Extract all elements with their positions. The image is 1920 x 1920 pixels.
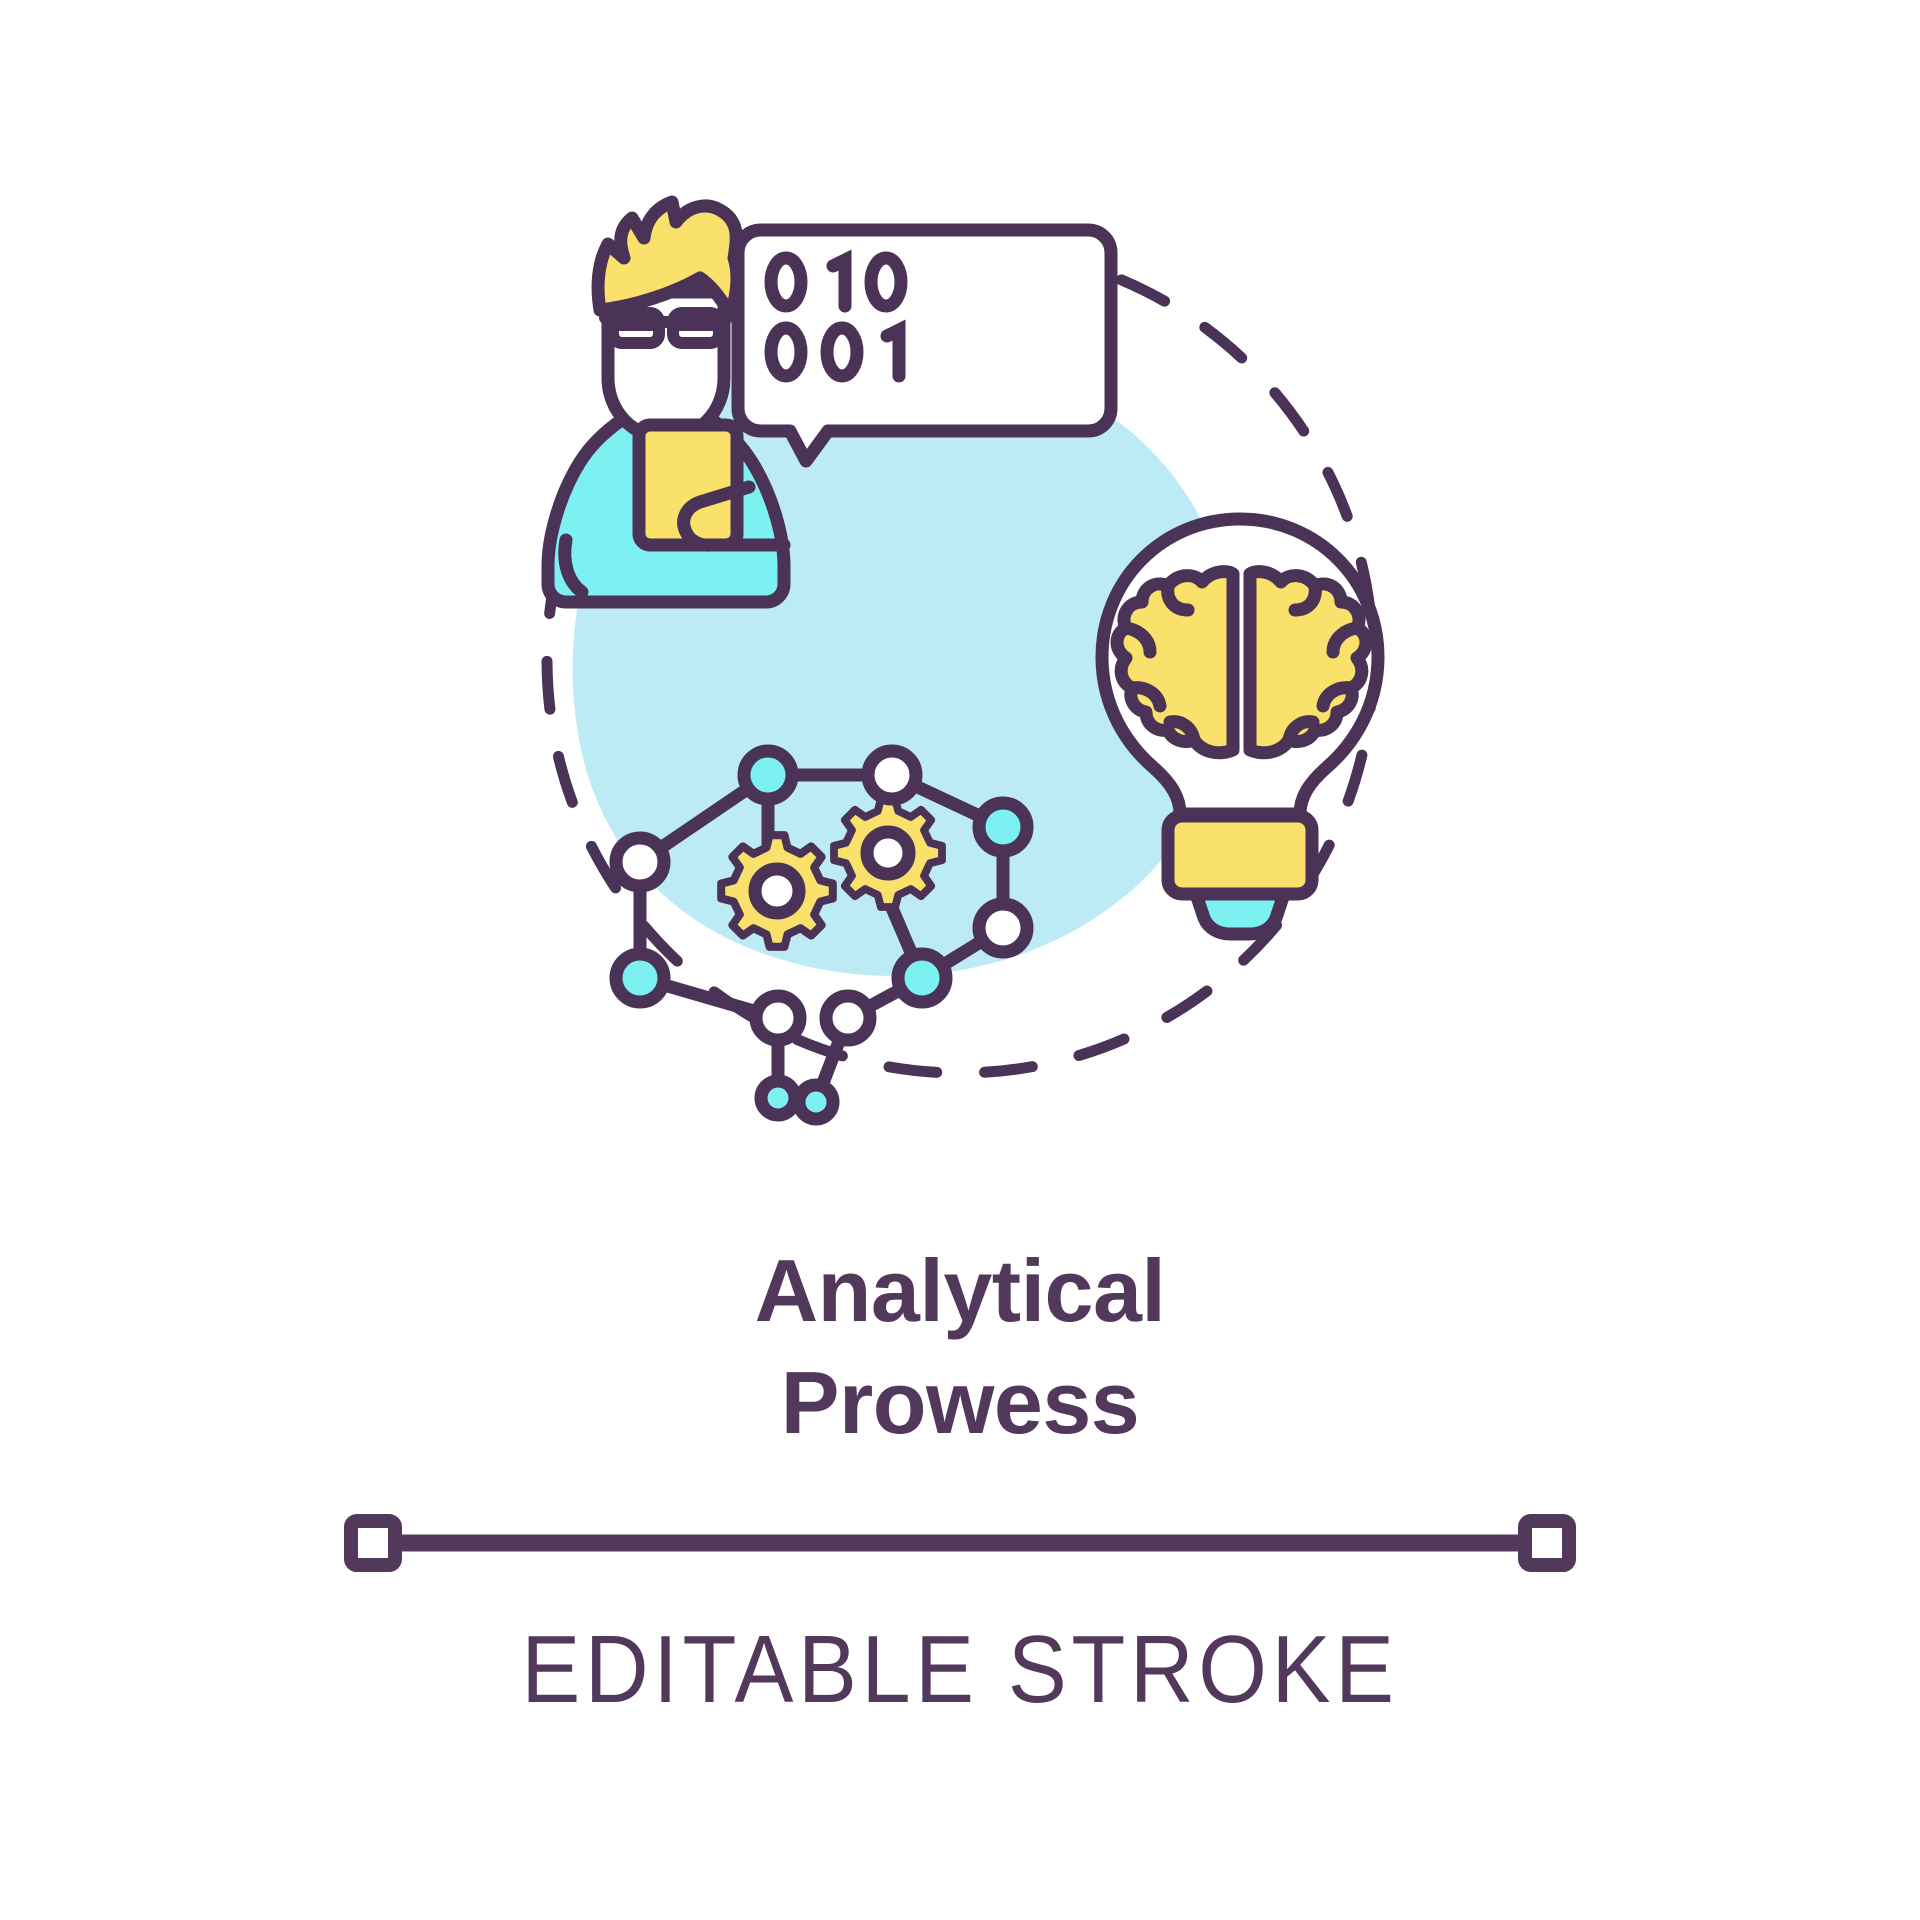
network-node bbox=[756, 996, 800, 1040]
binary-speech-bubble bbox=[738, 230, 1111, 461]
stroke-indicator-svg bbox=[0, 1500, 1920, 1620]
stroke-indicator-handle-right bbox=[1525, 1521, 1569, 1565]
gear-icon-left bbox=[721, 835, 833, 947]
network-node bbox=[898, 954, 946, 1002]
bulb-tip bbox=[1196, 894, 1284, 934]
network-node bbox=[979, 803, 1027, 851]
concept-title: Analytical Prowess bbox=[0, 1235, 1920, 1459]
network-node bbox=[616, 838, 664, 886]
bulb-base bbox=[1168, 816, 1312, 894]
stroke-width-indicator bbox=[0, 1500, 1920, 1620]
analytical-prowess-illustration bbox=[0, 0, 1920, 1250]
network-node bbox=[826, 996, 870, 1040]
network-node bbox=[616, 954, 664, 1002]
network-node bbox=[761, 1081, 795, 1115]
title-line-1: Analytical bbox=[0, 1235, 1920, 1347]
stroke-indicator-handle-left bbox=[351, 1521, 395, 1565]
illustration-area bbox=[0, 0, 1920, 1250]
gear-icon-right bbox=[834, 799, 942, 907]
title-line-2: Prowess bbox=[0, 1347, 1920, 1459]
network-node bbox=[868, 751, 916, 799]
person-hair bbox=[598, 202, 737, 314]
network-node bbox=[799, 1085, 833, 1119]
network-node bbox=[744, 751, 792, 799]
editable-stroke-caption: EDITABLE STROKE bbox=[77, 1610, 1843, 1730]
concept-icon-page: Analytical Prowess EDITABLE STROKE bbox=[0, 0, 1920, 1920]
network-node bbox=[979, 904, 1027, 952]
